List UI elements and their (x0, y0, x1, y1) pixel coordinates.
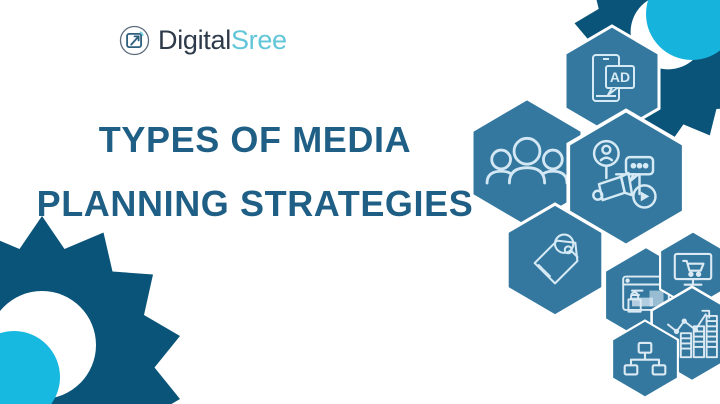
title-line-1: TYPES OF MEDIA (0, 122, 500, 158)
gear-bottom-left-shape (0, 195, 192, 404)
page-title: TYPES OF MEDIA PLANNING STRATEGIES (0, 122, 500, 222)
brand-logo[interactable]: DigitalSree (118, 22, 287, 58)
circle-bottom-left-shape (0, 329, 62, 404)
hexagon-branding-tag[interactable] (504, 202, 606, 318)
hexagon-icon-cluster: AD (462, 0, 720, 404)
svg-text:AD: AD (610, 69, 630, 85)
hexagon-network[interactable] (610, 319, 680, 399)
window-share-circle-icon (118, 24, 151, 57)
title-line-2: PLANNING STRATEGIES (0, 186, 500, 222)
brand-name: DigitalSree (158, 27, 287, 54)
brand-name-secondary: Sree (231, 25, 287, 55)
presentation-slide: DigitalSree TYPES OF MEDIA PLANNING STRA… (0, 0, 720, 404)
brand-name-primary: Digital (158, 25, 231, 55)
